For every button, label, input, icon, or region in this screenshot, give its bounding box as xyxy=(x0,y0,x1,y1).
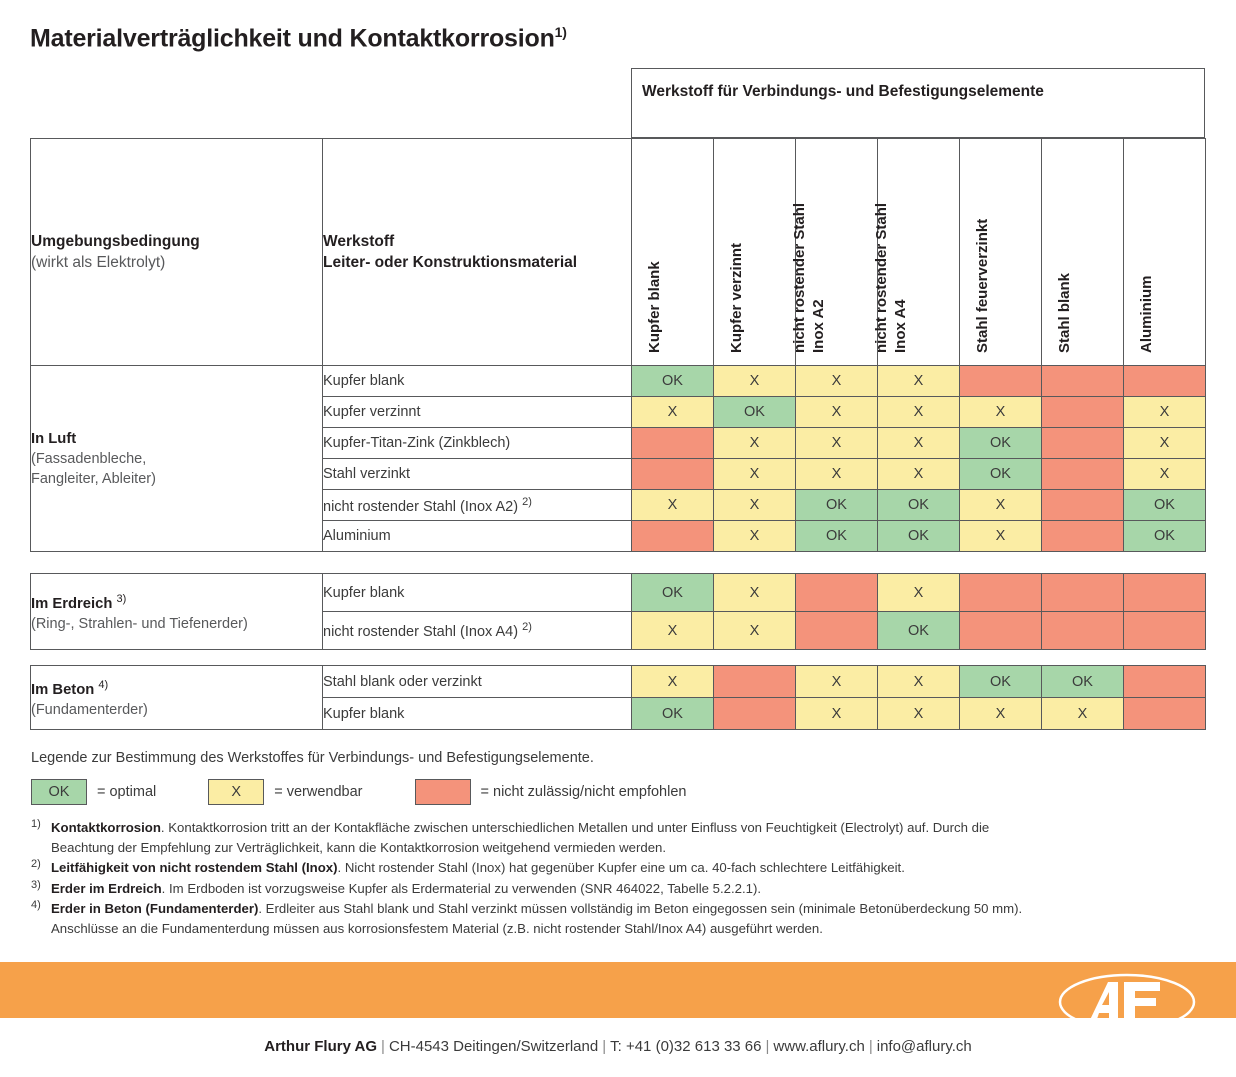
header-col-1-line1: Kupfer verzinnt xyxy=(728,243,745,353)
footer-phone: T: +41 (0)32 613 33 66 xyxy=(610,1038,761,1055)
header-mat-line1: Werkstoff xyxy=(323,233,394,250)
footer-email-link[interactable]: info@aflury.ch xyxy=(877,1038,972,1055)
footer-sep-2: | xyxy=(598,1038,610,1055)
header-cell-col-6: Aluminium xyxy=(1124,139,1206,366)
legend-swatch-1: X xyxy=(208,779,264,805)
rating-cell-6: X xyxy=(1124,428,1206,459)
rating-cell-4 xyxy=(960,612,1042,650)
material-cell: Kupfer blank xyxy=(323,366,632,397)
legend-swatch-0: OK xyxy=(31,779,87,805)
header-cell-col-5: Stahl blank xyxy=(1042,139,1124,366)
rating-cell-6 xyxy=(1124,366,1206,397)
rating-cell-0 xyxy=(632,459,714,490)
header-cell-col-0: Kupfer blank xyxy=(632,139,714,366)
rating-cell-6: X xyxy=(1124,459,1206,490)
environment-superscript: 3) xyxy=(116,593,126,605)
environment-superscript: 4) xyxy=(98,679,108,691)
rating-cell-1: OK xyxy=(714,397,796,428)
rating-cell-3: X xyxy=(878,666,960,698)
footer-sep-3: | xyxy=(762,1038,774,1055)
rating-cell-4: OK xyxy=(960,666,1042,698)
header-col-4-line1: Stahl feuerverzinkt xyxy=(974,219,991,353)
material-label: Kupfer-Titan-Zink (Zinkblech) xyxy=(323,435,510,451)
rating-cell-6: X xyxy=(1124,397,1206,428)
legend-text-1: = verwendbar xyxy=(274,784,362,800)
footnotes: 1)Kontaktkorrosion. Kontaktkorrosion tri… xyxy=(31,818,1206,939)
environment-title: Im Beton xyxy=(31,682,94,698)
section-body: Im Erdreich 3)(Ring-, Strahlen- und Tief… xyxy=(31,574,1206,650)
af-logo-icon xyxy=(1056,972,1198,1032)
rating-cell-0 xyxy=(632,428,714,459)
rating-cell-4 xyxy=(960,366,1042,397)
rating-cell-4 xyxy=(960,574,1042,612)
rating-cell-4: OK xyxy=(960,428,1042,459)
legend-intro: Legende zur Bestimmung des Werkstoffes f… xyxy=(31,750,594,766)
footnote-text: . Erdleiter aus Stahl blank und Stahl ve… xyxy=(258,901,1022,916)
footnote-lead: Erder im Erdreich xyxy=(51,881,162,896)
section-in-luft: In Luft(Fassadenbleche,Fangleiter, Ablei… xyxy=(30,365,1206,552)
footer-band xyxy=(0,962,1236,1018)
page-title-text: Materialverträglichkeit und Kontaktkorro… xyxy=(30,24,555,52)
rating-cell-6 xyxy=(1124,574,1206,612)
rating-cell-1 xyxy=(714,666,796,698)
rating-cell-4: X xyxy=(960,698,1042,730)
rating-cell-6: OK xyxy=(1124,490,1206,521)
rating-cell-1: X xyxy=(714,366,796,397)
material-label: Kupfer blank xyxy=(323,585,404,601)
rating-cell-1: X xyxy=(714,574,796,612)
header-col-6-line1: Aluminium xyxy=(1138,276,1155,354)
table-row: Im Erdreich 3)(Ring-, Strahlen- und Tief… xyxy=(31,574,1206,612)
header-col-2-line2: Inox A2 xyxy=(809,203,828,353)
material-cell: Stahl blank oder verzinkt xyxy=(323,666,632,698)
footnote-lead: Leitfähigkeit von nicht rostendem Stahl … xyxy=(51,860,338,875)
rating-cell-3: X xyxy=(878,397,960,428)
rating-cell-2: X xyxy=(796,397,878,428)
material-superscript: 2) xyxy=(522,621,532,633)
header-env-title: Umgebungsbedingung xyxy=(31,233,200,250)
rating-cell-1: X xyxy=(714,490,796,521)
footer-website-link[interactable]: www.aflury.ch xyxy=(773,1038,864,1055)
rating-cell-5 xyxy=(1042,612,1124,650)
rating-cell-2: X xyxy=(796,428,878,459)
material-superscript: 2) xyxy=(522,496,532,508)
footnote-marker: 1) xyxy=(31,815,41,835)
material-cell: nicht rostender Stahl (Inox A4) 2) xyxy=(323,612,632,650)
rating-cell-5: X xyxy=(1042,698,1124,730)
rating-cell-5 xyxy=(1042,397,1124,428)
footnote-lead: Erder in Beton (Fundamenterder) xyxy=(51,901,258,916)
header-cell-environment: Umgebungsbedingung (wirkt als Elektrolyt… xyxy=(31,139,323,366)
material-label: Kupfer blank xyxy=(323,373,404,389)
rating-cell-2 xyxy=(796,574,878,612)
material-cell: Aluminium xyxy=(323,521,632,552)
footnote-lead: Kontaktkorrosion xyxy=(51,820,161,835)
header-row: Umgebungsbedingung (wirkt als Elektrolyt… xyxy=(31,139,1206,366)
footnote-text: . Im Erdboden ist vorzugsweise Kupfer al… xyxy=(162,881,761,896)
footnote-marker: 3) xyxy=(31,876,41,896)
rating-cell-0: X xyxy=(632,490,714,521)
rating-cell-2: OK xyxy=(796,521,878,552)
datasheet-page: Materialverträglichkeit und Kontaktkorro… xyxy=(0,0,1236,1077)
footnote-4: 4)Erder in Beton (Fundamenterder). Erdle… xyxy=(31,899,1206,938)
legend-text-2: = nicht zulässig/nicht empfohlen xyxy=(481,784,687,800)
legend-text-0: = optimal xyxy=(97,784,156,800)
environment-sub-line1: (Fundamenterder) xyxy=(31,702,148,718)
material-label: Aluminium xyxy=(323,528,391,544)
rating-cell-5 xyxy=(1042,428,1124,459)
span-header-box: Werkstoff für Verbindungs- und Befestigu… xyxy=(631,68,1205,138)
rating-cell-4: X xyxy=(960,490,1042,521)
environment-cell: In Luft(Fassadenbleche,Fangleiter, Ablei… xyxy=(31,366,323,552)
header-env-sub: (wirkt als Elektrolyt) xyxy=(31,254,165,271)
material-label: Stahl verzinkt xyxy=(323,466,410,482)
rating-cell-3: X xyxy=(878,574,960,612)
section-body: In Luft(Fassadenbleche,Fangleiter, Ablei… xyxy=(31,366,1206,552)
rating-cell-6 xyxy=(1124,666,1206,698)
material-cell: Kupfer blank xyxy=(323,698,632,730)
footnote-3: 3)Erder im Erdreich. Im Erdboden ist vor… xyxy=(31,879,1206,899)
footnote-2: 2)Leitfähigkeit von nicht rostendem Stah… xyxy=(31,858,1206,878)
header-cell-col-1: Kupfer verzinnt xyxy=(714,139,796,366)
material-cell: Stahl verzinkt xyxy=(323,459,632,490)
rating-cell-4: X xyxy=(960,521,1042,552)
legend-row: OK= optimalX= verwendbar= nicht zulässig… xyxy=(31,779,686,805)
footnote-continuation: Beachtung der Empfehlung zur Verträglich… xyxy=(51,838,1206,858)
rating-cell-3: X xyxy=(878,698,960,730)
environment-sub-line1: (Ring-, Strahlen- und Tiefenerder) xyxy=(31,616,248,632)
rating-cell-6 xyxy=(1124,612,1206,650)
environment-cell: Im Erdreich 3)(Ring-, Strahlen- und Tief… xyxy=(31,574,323,650)
footer-address: CH-4543 Deitingen/Switzerland xyxy=(389,1038,598,1055)
header-cell-col-4: Stahl feuerverzinkt xyxy=(960,139,1042,366)
span-header-label: Werkstoff für Verbindungs- und Befestigu… xyxy=(642,83,1044,101)
rating-cell-0: OK xyxy=(632,574,714,612)
rating-cell-1: X xyxy=(714,459,796,490)
rating-cell-3: OK xyxy=(878,521,960,552)
header-col-2-line1: nicht rostender Stahl xyxy=(791,203,808,353)
rating-cell-0: OK xyxy=(632,698,714,730)
header-col-5-line1: Stahl blank xyxy=(1056,273,1073,353)
footer-sep-4: | xyxy=(865,1038,877,1055)
section-im-erdreich: Im Erdreich 3)(Ring-, Strahlen- und Tief… xyxy=(30,573,1206,650)
environment-title: Im Erdreich xyxy=(31,596,112,612)
rating-cell-0: X xyxy=(632,397,714,428)
footnote-1: 1)Kontaktkorrosion. Kontaktkorrosion tri… xyxy=(31,818,1206,857)
rating-cell-2: OK xyxy=(796,490,878,521)
footnote-continuation: Anschlüsse an die Fundamenterdung müssen… xyxy=(51,919,1206,939)
environment-sub-line2: Fangleiter, Ableiter) xyxy=(31,471,156,487)
footnote-text: . Nicht rostender Stahl (Inox) hat gegen… xyxy=(338,860,905,875)
rating-cell-0 xyxy=(632,521,714,552)
rating-cell-1: X xyxy=(714,521,796,552)
header-col-3-line1: nicht rostender Stahl xyxy=(873,203,890,353)
material-label: nicht rostender Stahl (Inox A4) xyxy=(323,624,518,640)
header-col-0-line1: Kupfer blank xyxy=(646,261,663,353)
footnote-marker: 4) xyxy=(31,896,41,916)
footer-contact: Arthur Flury AG|CH-4543 Deitingen/Switze… xyxy=(0,1038,1236,1055)
environment-cell: Im Beton 4)(Fundamenterder) xyxy=(31,666,323,730)
rating-cell-3: OK xyxy=(878,612,960,650)
rating-cell-1: X xyxy=(714,428,796,459)
section-body: Im Beton 4)(Fundamenterder)Stahl blank o… xyxy=(31,666,1206,730)
rating-cell-6: OK xyxy=(1124,521,1206,552)
material-cell: Kupfer verzinnt xyxy=(323,397,632,428)
header-cell-material: Werkstoff Leiter- oder Konstruktionsmate… xyxy=(323,139,632,366)
rating-cell-5 xyxy=(1042,574,1124,612)
rating-cell-3: X xyxy=(878,366,960,397)
footer-sep-1: | xyxy=(377,1038,389,1055)
footer-company: Arthur Flury AG xyxy=(264,1038,377,1055)
material-label: nicht rostender Stahl (Inox A2) xyxy=(323,498,518,514)
header-cell-col-2: nicht rostender StahlInox A2 xyxy=(796,139,878,366)
page-title: Materialverträglichkeit und Kontaktkorro… xyxy=(30,24,567,53)
rating-cell-3: X xyxy=(878,459,960,490)
rating-cell-0: X xyxy=(632,666,714,698)
header-cell-col-3: nicht rostender StahlInox A4 xyxy=(878,139,960,366)
material-cell: Kupfer blank xyxy=(323,574,632,612)
rating-cell-4: X xyxy=(960,397,1042,428)
page-title-superscript: 1) xyxy=(555,24,567,40)
rating-cell-5 xyxy=(1042,490,1124,521)
table-row: Im Beton 4)(Fundamenterder)Stahl blank o… xyxy=(31,666,1206,698)
legend-swatch-2 xyxy=(415,779,471,805)
rating-cell-5 xyxy=(1042,521,1124,552)
rating-cell-5 xyxy=(1042,459,1124,490)
rating-cell-5 xyxy=(1042,366,1124,397)
material-cell: nicht rostender Stahl (Inox A2) 2) xyxy=(323,490,632,521)
rating-cell-2 xyxy=(796,612,878,650)
rating-cell-3: X xyxy=(878,428,960,459)
material-label: Kupfer blank xyxy=(323,706,404,722)
rating-cell-5: OK xyxy=(1042,666,1124,698)
environment-sub-line1: (Fassadenbleche, xyxy=(31,451,146,467)
header-mat-line2: Leiter- oder Konstruktionsmaterial xyxy=(323,254,577,271)
section-im-beton: Im Beton 4)(Fundamenterder)Stahl blank o… xyxy=(30,665,1206,730)
rating-cell-2: X xyxy=(796,666,878,698)
header-col-3-line2: Inox A4 xyxy=(891,203,910,353)
material-label: Kupfer verzinnt xyxy=(323,404,421,420)
environment-title: In Luft xyxy=(31,431,76,447)
rating-cell-1: X xyxy=(714,612,796,650)
rating-cell-0: OK xyxy=(632,366,714,397)
table-row: In Luft(Fassadenbleche,Fangleiter, Ablei… xyxy=(31,366,1206,397)
rating-cell-1 xyxy=(714,698,796,730)
rating-cell-6 xyxy=(1124,698,1206,730)
rating-cell-4: OK xyxy=(960,459,1042,490)
table-column-headers: Umgebungsbedingung (wirkt als Elektrolyt… xyxy=(30,138,1206,366)
rating-cell-2: X xyxy=(796,366,878,397)
rating-cell-2: X xyxy=(796,698,878,730)
rating-cell-0: X xyxy=(632,612,714,650)
rating-cell-2: X xyxy=(796,459,878,490)
footnote-marker: 2) xyxy=(31,855,41,875)
material-cell: Kupfer-Titan-Zink (Zinkblech) xyxy=(323,428,632,459)
footnote-text: . Kontaktkorrosion tritt an der Kontakfl… xyxy=(161,820,989,835)
rating-cell-3: OK xyxy=(878,490,960,521)
material-label: Stahl blank oder verzinkt xyxy=(323,674,482,690)
